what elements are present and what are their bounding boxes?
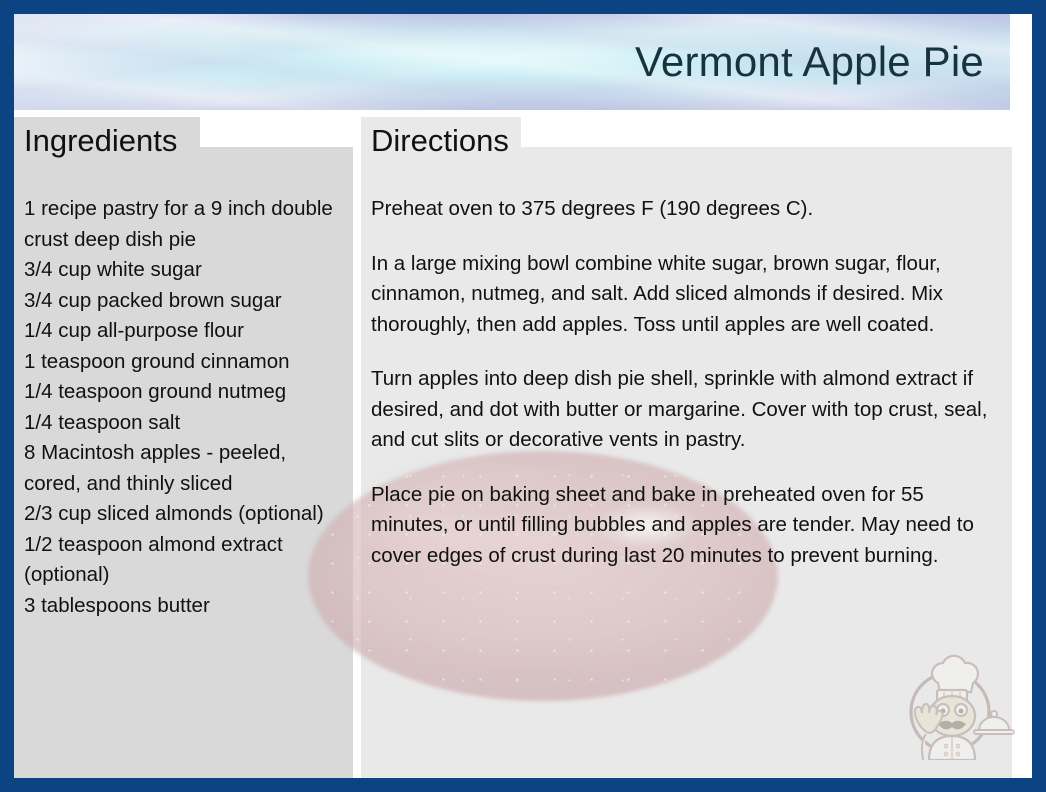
list-item: 1/4 cup all-purpose flour bbox=[24, 316, 343, 347]
direction-step: Turn apples into deep dish pie shell, sp… bbox=[371, 364, 990, 456]
direction-step: Place pie on baking sheet and bake in pr… bbox=[371, 480, 990, 572]
directions-body: Preheat oven to 375 degrees F (190 degre… bbox=[361, 147, 1012, 571]
page-title: Vermont Apple Pie bbox=[635, 38, 984, 86]
list-item: 8 Macintosh apples - peeled, cored, and … bbox=[24, 438, 343, 499]
directions-panel: Directions Preheat oven to 375 degrees F… bbox=[361, 147, 1012, 778]
list-item: 3 tablespoons butter bbox=[24, 591, 343, 622]
ingredients-body: 1 recipe pastry for a 9 inch double crus… bbox=[14, 147, 353, 621]
list-item: 1/2 teaspoon almond extract (optional) bbox=[24, 530, 343, 591]
direction-step: Preheat oven to 375 degrees F (190 degre… bbox=[371, 194, 990, 225]
direction-step: In a large mixing bowl combine white sug… bbox=[371, 249, 990, 341]
title-banner: Vermont Apple Pie bbox=[14, 14, 1010, 110]
recipe-slide: Vermont Apple Pie Ingredients 1 recipe p… bbox=[0, 0, 1046, 792]
list-item: 1 teaspoon ground cinnamon bbox=[24, 347, 343, 378]
ingredients-list: 1 recipe pastry for a 9 inch double crus… bbox=[24, 194, 343, 621]
list-item: 1/4 teaspoon ground nutmeg bbox=[24, 377, 343, 408]
list-item: 2/3 cup sliced almonds (optional) bbox=[24, 499, 343, 530]
ingredients-panel: Ingredients 1 recipe pastry for a 9 inch… bbox=[14, 147, 353, 778]
list-item: 3/4 cup packed brown sugar bbox=[24, 286, 343, 317]
list-item: 1/4 teaspoon salt bbox=[24, 408, 343, 439]
list-item: 1 recipe pastry for a 9 inch double crus… bbox=[24, 194, 343, 255]
list-item: 3/4 cup white sugar bbox=[24, 255, 343, 286]
